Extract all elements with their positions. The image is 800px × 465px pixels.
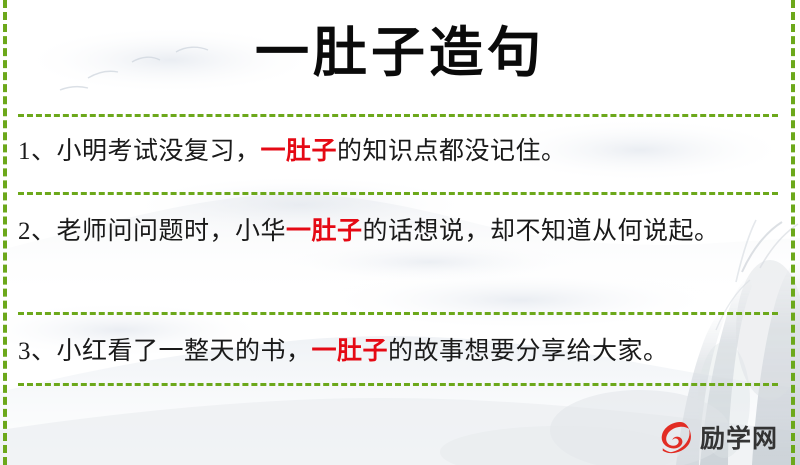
sentence-item-1: 1、小明考试没复习，一肚子的知识点都没记住。 (18, 131, 774, 173)
sentence-text-before-3: 小红看了一整天的书， (57, 338, 312, 365)
frame-border-right (791, 0, 795, 465)
sentence-text-after-3: 的故事想要分享给大家。 (388, 338, 669, 365)
content-area: 一肚子造句 1、小明考试没复习，一肚子的知识点都没记住。 2、老师问问题时，小华… (0, 0, 800, 465)
sentence-text-before-2: 老师问问题时，小华 (57, 218, 287, 245)
keyword-highlight-3: 一肚子 (312, 338, 389, 365)
sentence-number-1: 1、 (18, 138, 57, 165)
page-title: 一肚子造句 (0, 22, 800, 84)
sentence-text-after-1: 的知识点都没记住。 (337, 138, 567, 165)
frame-border-left (3, 0, 7, 465)
watermark-label: 励学网 (700, 419, 778, 455)
sentence-number-3: 3、 (18, 338, 57, 365)
swirl-flame-icon (654, 417, 694, 457)
divider-below-sentence-1 (18, 192, 778, 195)
divider-below-title (18, 114, 778, 117)
sentence-text-before-1: 小明考试没复习， (57, 138, 261, 165)
sentence-number-2: 2、 (18, 218, 57, 245)
divider-below-sentence-2 (18, 312, 778, 315)
watermark-logo: 励学网 (654, 417, 778, 457)
sentence-text-after-2: 的话想说，却不知道从何说起。 (363, 218, 720, 245)
page-root: 一肚子造句 1、小明考试没复习，一肚子的知识点都没记住。 2、老师问问题时，小华… (0, 0, 800, 465)
keyword-highlight-2: 一肚子 (286, 218, 363, 245)
keyword-highlight-1: 一肚子 (261, 138, 338, 165)
sentence-item-3: 3、小红看了一整天的书，一肚子的故事想要分享给大家。 (18, 331, 774, 373)
sentence-item-2: 2、老师问问题时，小华一肚子的话想说，却不知道从何说起。 (18, 211, 774, 253)
divider-below-sentence-3 (18, 383, 778, 386)
